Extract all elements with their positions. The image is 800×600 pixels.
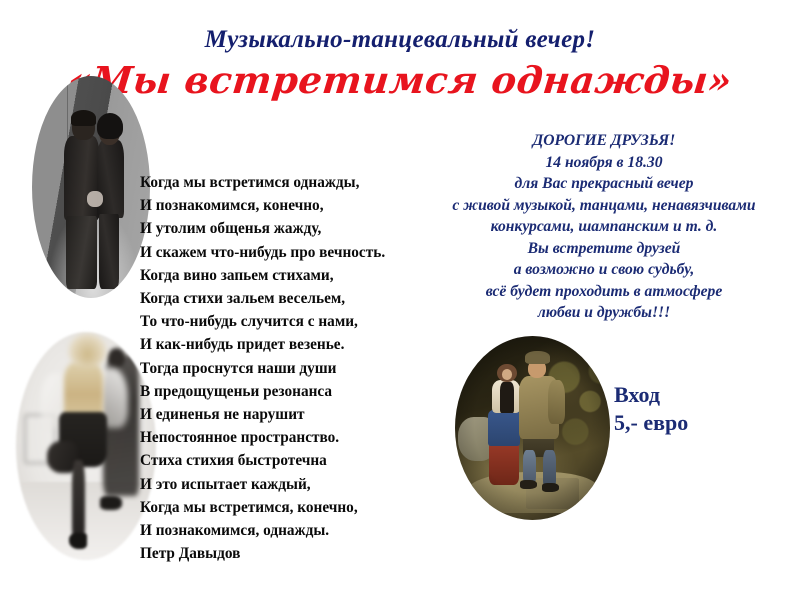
poem-line: И как-нибудь придет везенье.: [140, 333, 440, 356]
poem-line: Когда вино запьем стихами,: [140, 264, 440, 287]
man-torso: [64, 136, 99, 220]
price-label: Вход: [614, 381, 688, 409]
joined-hands: [87, 191, 102, 207]
announcement-block: ДОРОГИЕ ДРУЗЬЯ! 14 ноября в 18.30 для Ва…: [408, 130, 800, 324]
poem-line: Стиха стихия быстротечна: [140, 449, 440, 472]
announcement-line: любви и дружбы!!!: [408, 302, 800, 324]
price-block: Вход 5,- евро: [614, 381, 688, 437]
dance-partner-shoe: [100, 496, 122, 510]
poem-line: Тогда проснутся наши души: [140, 357, 440, 380]
poem-line: И это испытает каждый,: [140, 473, 440, 496]
announcement-line: всё будет проходить в атмосфере: [408, 281, 800, 303]
poem-line: В предощущеньи резонанса: [140, 380, 440, 403]
woman-hair: [97, 113, 123, 140]
man-legs: [66, 216, 97, 289]
poem-line: Непостоянное пространство.: [140, 426, 440, 449]
poem-line: И скажем что-нибудь про вечность.: [140, 241, 440, 264]
poster-title-primary: Музыкально-танцевальный вечер!: [0, 26, 800, 54]
poem-line: Когда стихи зальем весельем,: [140, 287, 440, 310]
dancer-shoe: [69, 533, 87, 549]
dancer-hair: [69, 334, 105, 368]
poster-canvas: Музыкально-танцевальный вечер! «Мы встре…: [0, 0, 800, 600]
announcement-line: конкурсами, шампанским и т. д.: [408, 216, 800, 238]
oil-painting: [455, 336, 610, 520]
price-amount: 5,- евро: [614, 409, 688, 437]
poem-line: Когда мы встретимся однажды,: [140, 171, 440, 194]
poem-line: И познакомимся, однажды.: [140, 519, 440, 542]
poem-line: Когда мы встретимся, конечно,: [140, 496, 440, 519]
poem-block: Когда мы встретимся однажды, И познакоми…: [140, 171, 440, 565]
dancer-photo: [16, 332, 156, 560]
announcement-line: с живой музыкой, танцами, ненавязчивами: [408, 195, 800, 217]
poem-line: И познакомимся, конечно,: [140, 194, 440, 217]
poem-author: Петр Давыдов: [140, 542, 440, 565]
poem-line: То что-нибудь случится с нами,: [140, 310, 440, 333]
announcement-line: Вы встретите друзей: [408, 238, 800, 260]
announcement-line: ДОРОГИЕ ДРУЗЬЯ!: [408, 130, 800, 152]
announcement-line: для Вас прекрасный вечер: [408, 173, 800, 195]
poem-line: И единенья не нарушит: [140, 403, 440, 426]
woman-torso: [97, 140, 124, 218]
announcement-line: 14 ноября в 18.30: [408, 152, 800, 174]
woman-legs: [99, 214, 119, 289]
man-hair: [71, 110, 96, 126]
announcement-line: а возможно и свою судьбу,: [408, 259, 800, 281]
dancer-leg-standing: [72, 460, 85, 542]
poem-line: И утолим общенья жажду,: [140, 217, 440, 240]
couple-photo: [32, 76, 150, 298]
painting-vignette: [455, 336, 610, 520]
